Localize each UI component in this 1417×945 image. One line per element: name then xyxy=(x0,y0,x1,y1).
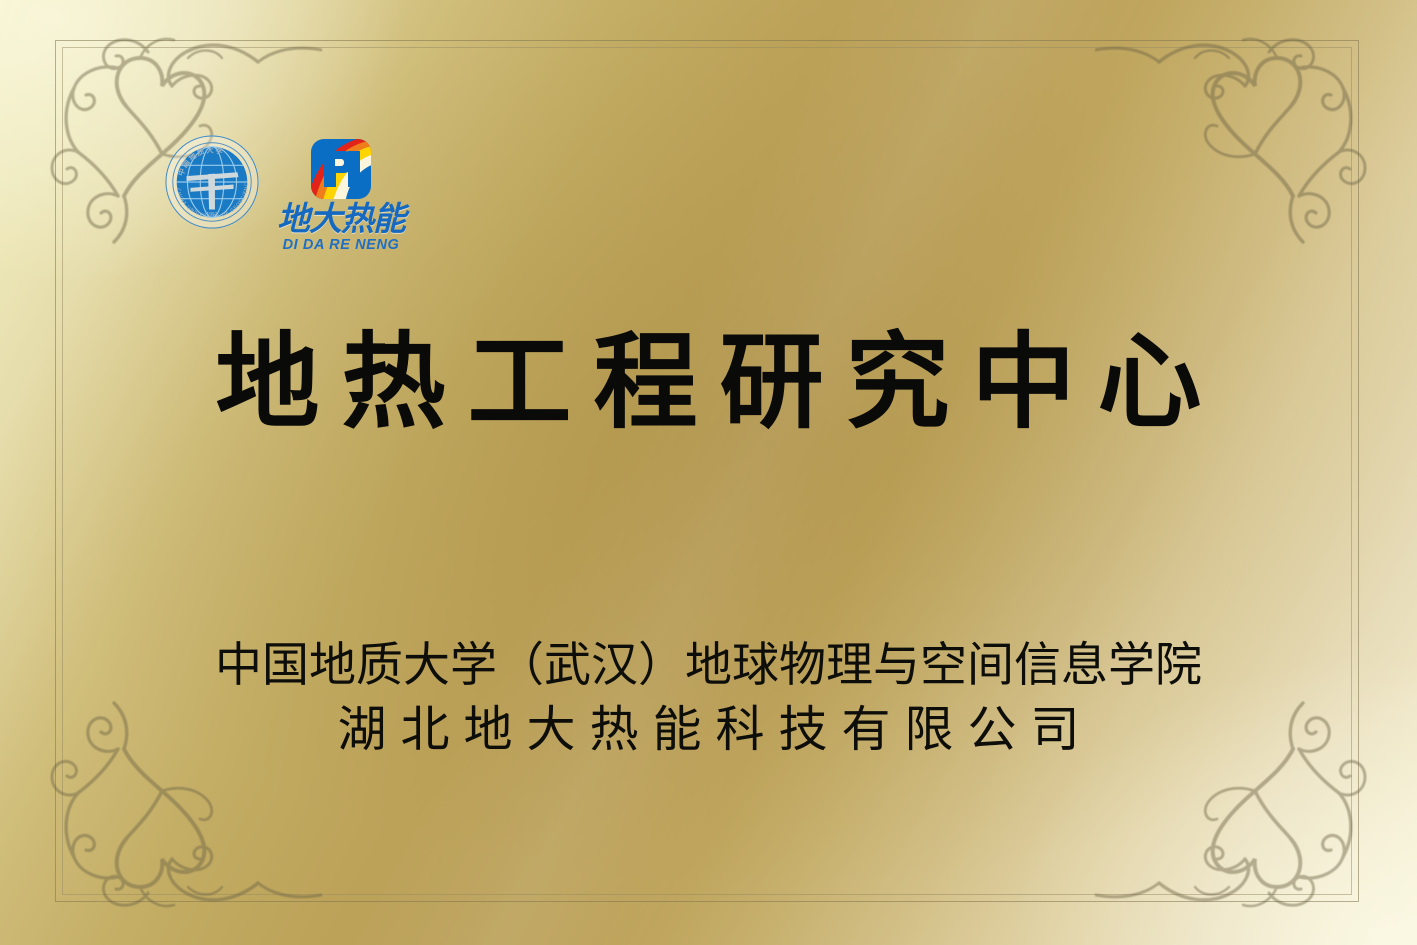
plaque-title: 地热工程研究中心 xyxy=(0,330,1417,434)
didareneng-chinese-wordmark: 地大热能 xyxy=(277,202,405,235)
logo-row: 中国地质大学 CHINA UNIVERSITY OF GEOSCIENCES 1… xyxy=(163,133,405,253)
didareneng-rainbow-mark-icon xyxy=(310,138,372,200)
svg-text:1952: 1952 xyxy=(207,211,218,217)
plaque-footer: 中国地质大学（武汉）地球物理与空间信息学院 湖北地大热能科技有限公司 xyxy=(0,640,1417,759)
page-title: 地热工程研究中心 xyxy=(193,330,1223,434)
didareneng-pinyin-wordmark: DI DA RE NENG xyxy=(283,238,400,253)
didareneng-logo: 地大热能 DI DA RE NENG xyxy=(277,133,405,253)
china-university-of-geosciences-seal-icon: 中国地质大学 CHINA UNIVERSITY OF GEOSCIENCES 1… xyxy=(163,133,261,231)
footer-line-institute: 中国地质大学（武汉）地球物理与空间信息学院 xyxy=(0,640,1417,693)
plaque-board: 中国地质大学 CHINA UNIVERSITY OF GEOSCIENCES 1… xyxy=(0,0,1417,945)
footer-line-company: 湖北地大热能科技有限公司 xyxy=(0,701,1417,760)
ornament-top-right-icon xyxy=(1095,14,1395,244)
